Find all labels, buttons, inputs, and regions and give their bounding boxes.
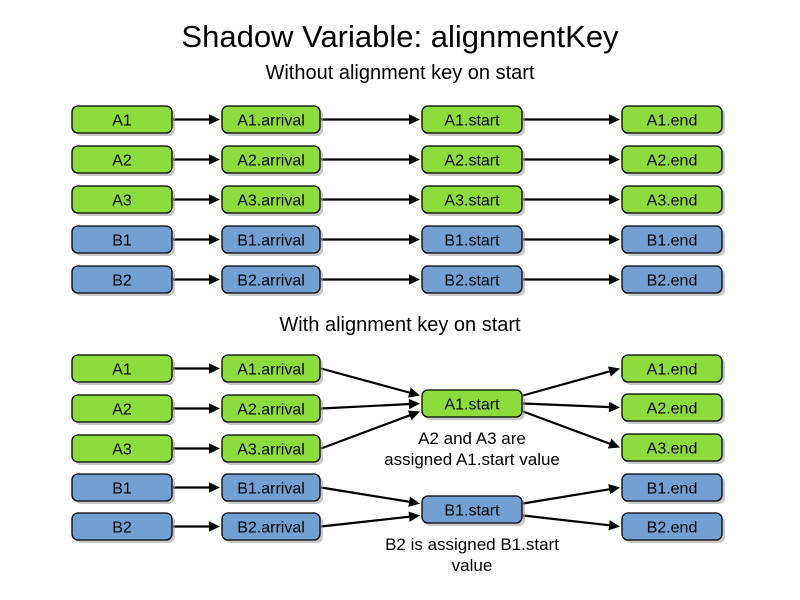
node-s1-b2[interactable]: B2	[72, 266, 175, 296]
edge-s1-a2-to-s1-a2-arrival	[173, 154, 220, 164]
node-s2-a1[interactable]: A1	[72, 355, 175, 385]
edge-s2-b1-start-to-s2-b2-end	[523, 516, 620, 531]
node-s2-b2-arrival[interactable]: B2.arrival	[222, 513, 323, 543]
node-s1-a1-start[interactable]: A1.start	[422, 106, 525, 136]
edge-s1-a2-arrival-to-s1-a2-start	[321, 154, 420, 164]
edge-s2-a1-arrival-to-s2-a1-start	[321, 369, 420, 398]
edge-s1-a3-start-to-s1-a3-end	[523, 194, 620, 204]
node-label: A2.end	[647, 153, 698, 170]
node-label: A1.arrival	[237, 113, 305, 130]
edge-s1-b1-arrival-to-s1-b1-start	[321, 234, 420, 244]
node-s1-a2[interactable]: A2	[72, 146, 175, 176]
annotation-note-a: A2 and A3 areassigned A1.start value	[384, 429, 560, 469]
node-label: A1.start	[444, 113, 500, 130]
node-s2-a3-end[interactable]: A3.end	[622, 434, 725, 464]
edge-s1-b2-to-s1-b2-arrival	[173, 274, 220, 284]
node-s2-b1-start[interactable]: B1.start	[422, 496, 525, 526]
node-label: B2.arrival	[237, 520, 305, 537]
edge-s1-b2-start-to-s1-b2-end	[523, 274, 620, 284]
node-s2-a1-end[interactable]: A1.end	[622, 355, 725, 385]
node-s1-b2-end[interactable]: B2.end	[622, 266, 725, 296]
node-s1-a2-end[interactable]: A2.end	[622, 146, 725, 176]
edge-s2-a3-arrival-to-s2-a1-start	[321, 410, 420, 448]
edge-s1-a3-to-s1-a3-arrival	[173, 194, 220, 204]
node-s1-a3-start[interactable]: A3.start	[422, 186, 525, 216]
node-label: B2	[112, 520, 132, 537]
node-label: B1	[112, 233, 132, 250]
node-s1-a3-end[interactable]: A3.end	[622, 186, 725, 216]
node-label: A1	[112, 113, 132, 130]
node-label: A2.arrival	[237, 402, 305, 419]
edge-s2-b2-to-s2-b2-arrival	[173, 521, 220, 531]
node-label: B2.end	[647, 273, 698, 290]
node-s1-a2-start[interactable]: A2.start	[422, 146, 525, 176]
node-label: A3.end	[647, 441, 698, 458]
edge-s2-a1-start-to-s2-a3-end	[523, 412, 620, 449]
node-label: B1.arrival	[237, 233, 305, 250]
node-label: B2	[112, 273, 132, 290]
edge-s2-a2-arrival-to-s2-a1-start	[321, 399, 420, 409]
page-title: Shadow Variable: alignmentKey	[181, 19, 619, 54]
node-s2-a2-arrival[interactable]: A2.arrival	[222, 395, 323, 425]
node-label: A2	[112, 402, 132, 419]
node-label: B1.end	[647, 481, 698, 498]
edge-s2-a1-start-to-s2-a1-end	[523, 366, 620, 395]
annotation-note-b: B2 is assigned B1.startvalue	[385, 535, 559, 575]
edge-s2-a3-to-s2-a3-arrival	[173, 443, 220, 453]
node-label: A1.arrival	[237, 362, 305, 379]
node-label: A2.start	[444, 153, 500, 170]
node-label: B1	[112, 481, 132, 498]
annotation-line: assigned A1.start value	[384, 450, 560, 469]
edge-s1-a1-arrival-to-s1-a1-start	[321, 114, 420, 124]
node-s2-b2-end[interactable]: B2.end	[622, 513, 725, 543]
node-s1-a3[interactable]: A3	[72, 186, 175, 216]
edge-s1-a3-arrival-to-s1-a3-start	[321, 194, 420, 204]
annotation-line: B2 is assigned B1.start	[385, 535, 559, 554]
node-label: B2.arrival	[237, 273, 305, 290]
edge-s1-b1-start-to-s1-b1-end	[523, 234, 620, 244]
node-s2-b2[interactable]: B2	[72, 513, 175, 543]
node-s1-b1-end[interactable]: B1.end	[622, 226, 725, 256]
node-s2-a1-arrival[interactable]: A1.arrival	[222, 355, 323, 385]
node-s2-a3[interactable]: A3	[72, 435, 175, 465]
node-s2-a2-end[interactable]: A2.end	[622, 394, 725, 424]
node-label: A3.end	[647, 193, 698, 210]
node-label: A1	[112, 362, 132, 379]
node-label: A2.end	[647, 401, 698, 418]
shadow-variable-diagram: A1A1.arrivalA1.startA1.endA2A2.arrivalA2…	[0, 0, 800, 600]
node-label: A3.arrival	[237, 442, 305, 459]
edge-s2-b1-arrival-to-s2-b1-start	[321, 488, 420, 507]
annotation-line: value	[452, 556, 493, 575]
node-label: A3	[112, 442, 132, 459]
edge-s2-a2-to-s2-a2-arrival	[173, 403, 220, 413]
node-s1-b1[interactable]: B1	[72, 226, 175, 256]
node-s2-b1-arrival[interactable]: B1.arrival	[222, 474, 323, 504]
node-s2-a3-arrival[interactable]: A3.arrival	[222, 435, 323, 465]
node-label: B1.end	[647, 233, 698, 250]
edge-s1-b2-arrival-to-s1-b2-start	[321, 274, 420, 284]
diagram-canvas: A1A1.arrivalA1.startA1.endA2A2.arrivalA2…	[0, 0, 800, 600]
node-label: A2	[112, 153, 132, 170]
node-s1-a1[interactable]: A1	[72, 106, 175, 136]
node-label: B2.end	[647, 520, 698, 537]
node-s1-a1-end[interactable]: A1.end	[622, 106, 725, 136]
node-label: A2.arrival	[237, 153, 305, 170]
node-s1-b1-start[interactable]: B1.start	[422, 226, 525, 256]
node-label: B1.start	[444, 503, 500, 520]
edge-s1-b1-to-s1-b1-arrival	[173, 234, 220, 244]
section-heading-without-alignment-key: Without alignment key on start	[265, 62, 534, 84]
edge-s1-a2-start-to-s1-a2-end	[523, 154, 620, 164]
edge-s2-a1-start-to-s2-a2-end	[523, 402, 620, 412]
node-label: B1.start	[444, 233, 500, 250]
edge-s2-b2-arrival-to-s2-b1-start	[321, 512, 420, 527]
node-s2-b1-end[interactable]: B1.end	[622, 474, 725, 504]
node-s1-a3-arrival[interactable]: A3.arrival	[222, 186, 323, 216]
node-label: A3.start	[444, 193, 500, 210]
node-label: A1.end	[647, 362, 698, 379]
node-s1-b2-start[interactable]: B2.start	[422, 266, 525, 296]
node-s1-b1-arrival[interactable]: B1.arrival	[222, 226, 323, 256]
node-s1-a1-arrival[interactable]: A1.arrival	[222, 106, 323, 136]
node-s1-a2-arrival[interactable]: A2.arrival	[222, 146, 323, 176]
annotation-line: A2 and A3 are	[418, 429, 526, 448]
node-s2-a1-start[interactable]: A1.start	[422, 390, 525, 420]
section-heading-with-alignment-key: With alignment key on start	[279, 314, 521, 336]
node-label: A3.arrival	[237, 193, 305, 210]
node-s2-a2[interactable]: A2	[72, 395, 175, 425]
node-s1-b2-arrival[interactable]: B2.arrival	[222, 266, 323, 296]
node-s2-b1[interactable]: B1	[72, 474, 175, 504]
node-label: B1.arrival	[237, 481, 305, 498]
edge-s2-b1-to-s2-b1-arrival	[173, 482, 220, 492]
edge-s2-b1-start-to-s2-b1-end	[523, 484, 620, 503]
node-label: A1.start	[444, 397, 500, 414]
node-label: B2.start	[444, 273, 500, 290]
edge-s1-a1-to-s1-a1-arrival	[173, 114, 220, 124]
edge-s1-a1-start-to-s1-a1-end	[523, 114, 620, 124]
edge-s2-a1-to-s2-a1-arrival	[173, 363, 220, 373]
node-label: A1.end	[647, 113, 698, 130]
node-label: A3	[112, 193, 132, 210]
